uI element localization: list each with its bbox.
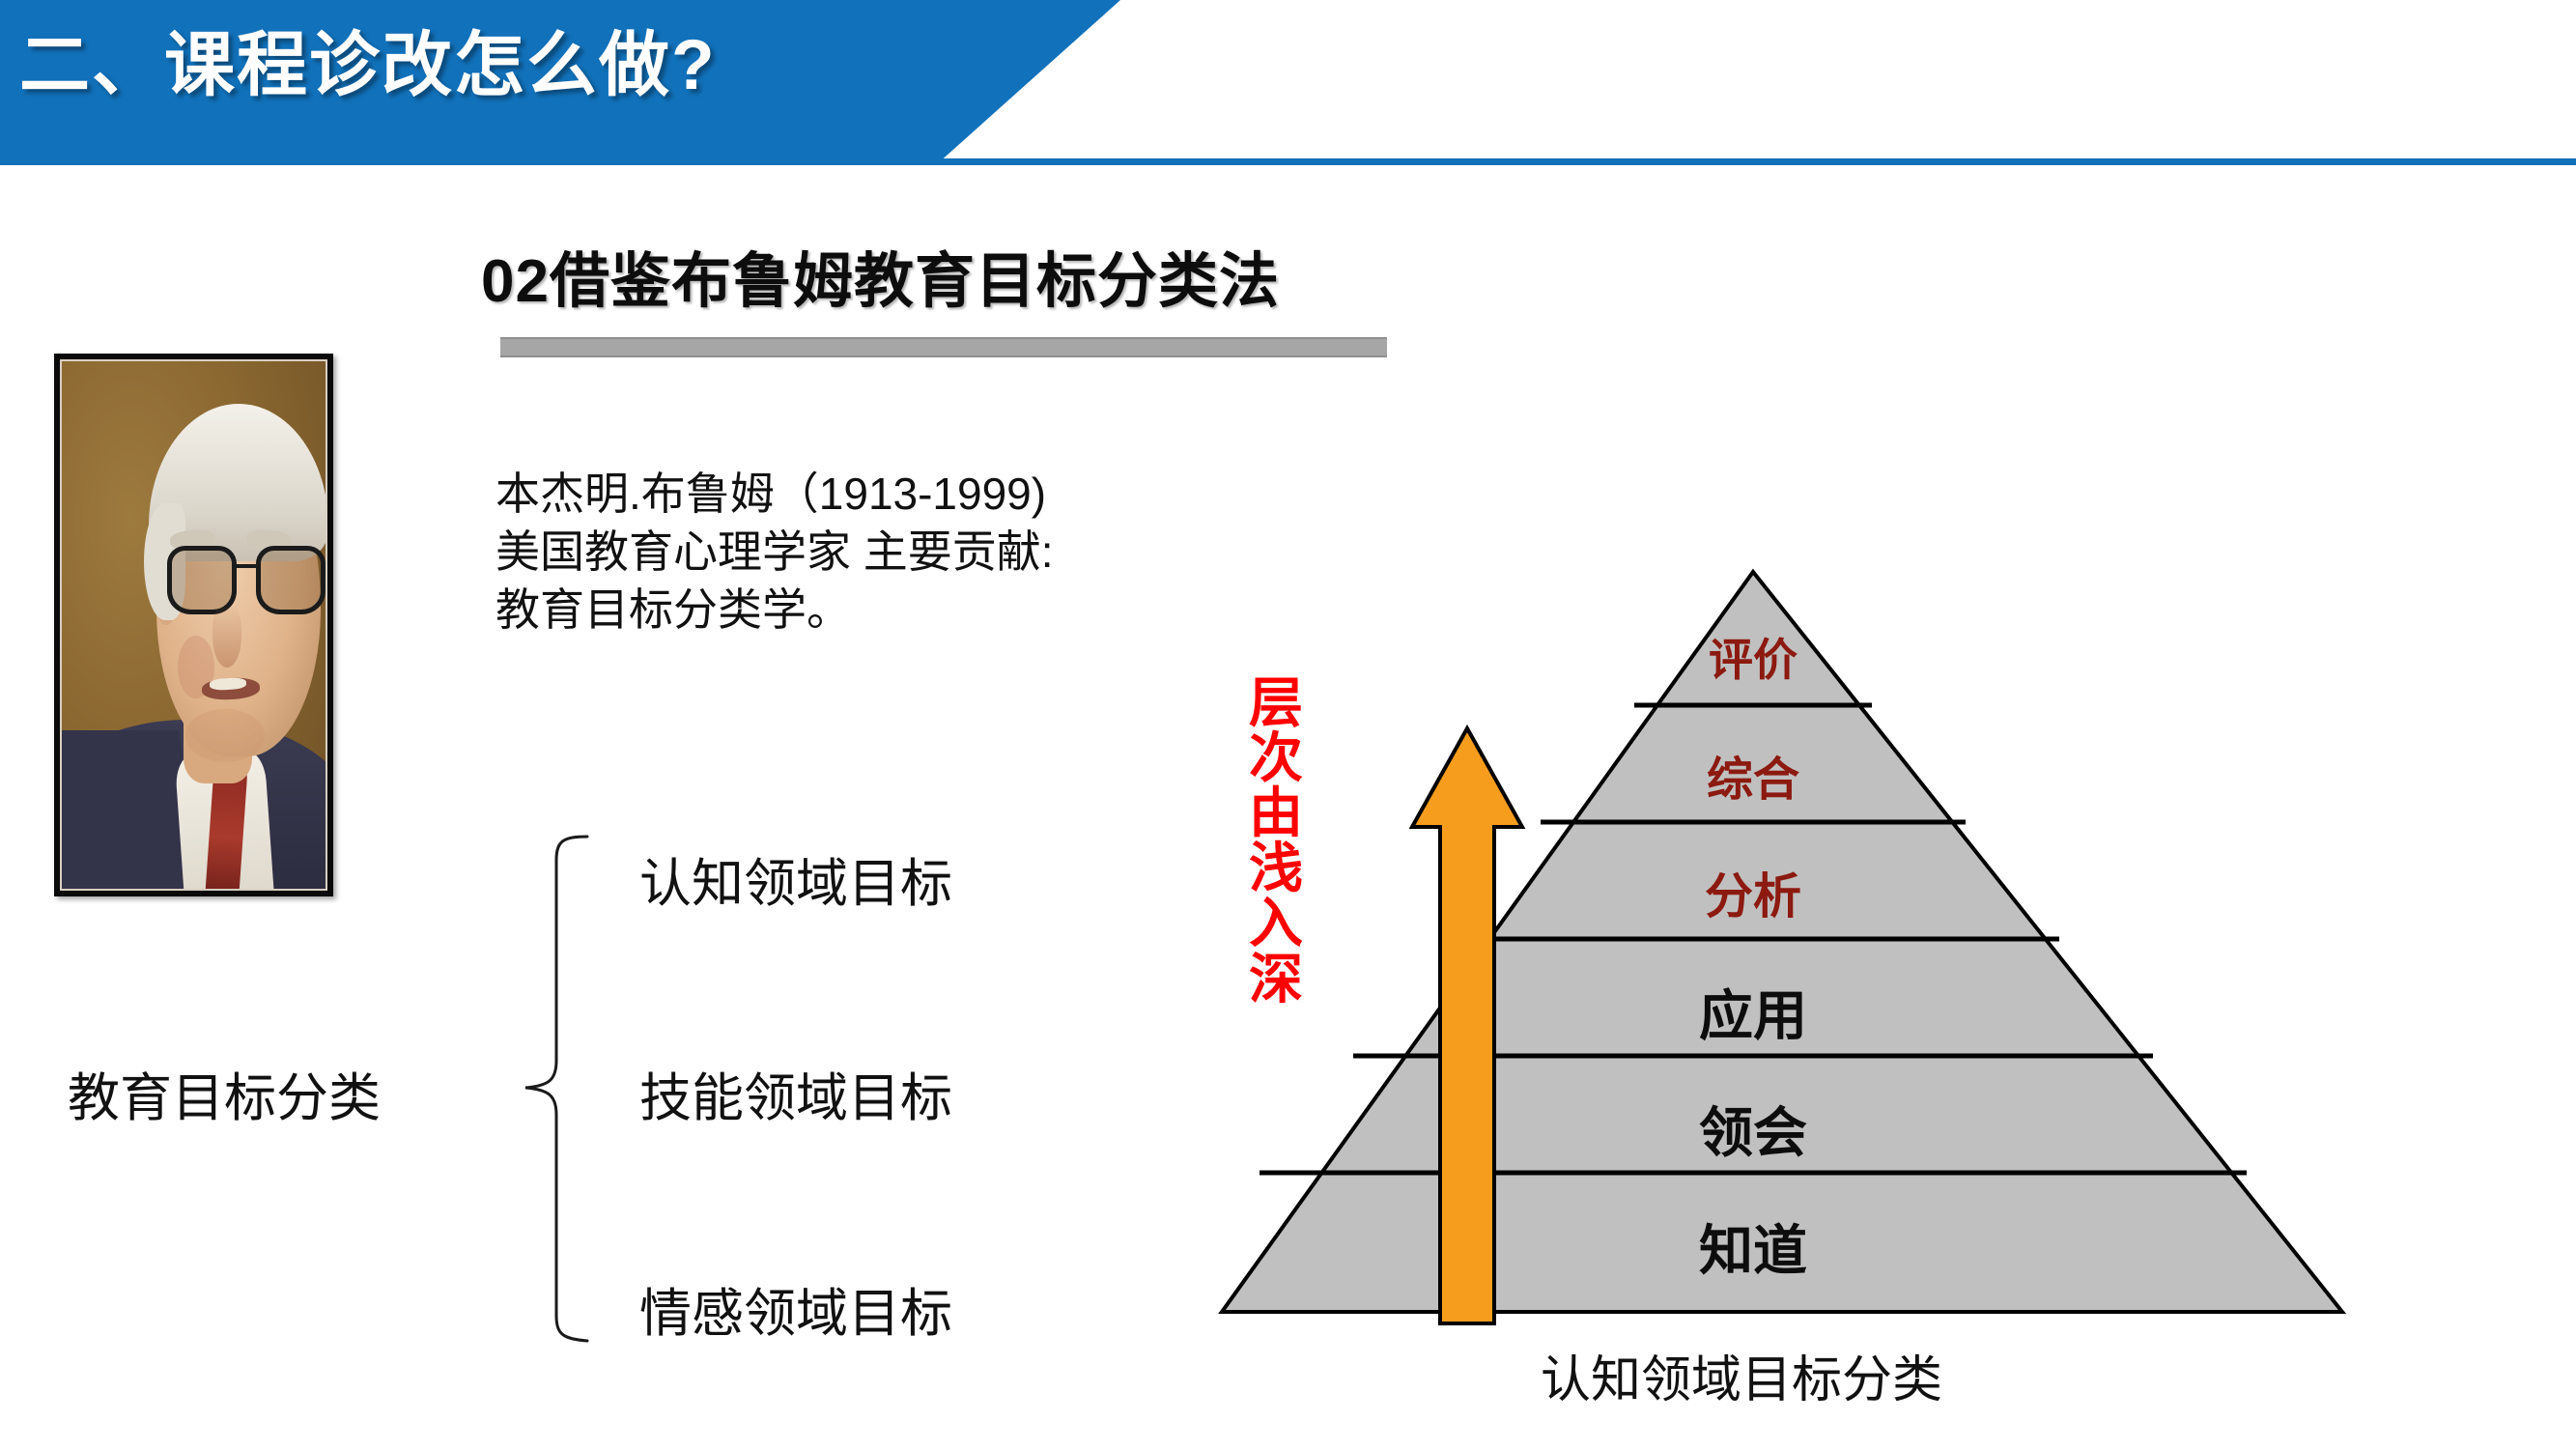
section-title-underbar — [500, 337, 1387, 357]
section-title: 02借鉴布鲁姆教育目标分类法 — [481, 232, 1280, 319]
bio-line-1: 本杰明.布鲁姆（1913-1999) — [495, 466, 1054, 524]
bio-line-2: 美国教育心理学家 主要贡献: — [495, 524, 1054, 582]
pyramid-graphic — [1198, 555, 2366, 1328]
portrait-glasses-bridge — [236, 564, 258, 568]
arrow-caption-char-2: 由 — [1246, 786, 1306, 841]
slide-canvas: 二、课程诊改怎么做? 02借鉴布鲁姆教育目标分类法 — [0, 0, 2576, 1450]
arrow-caption-char-0: 层 — [1246, 676, 1306, 731]
page-title: 二、课程诊改怎么做? — [19, 21, 717, 109]
blooms-taxonomy-pyramid: 评价 综合 分析 应用 领会 知道 — [1198, 555, 2366, 1328]
arrow-caption-char-5: 深 — [1246, 952, 1306, 1008]
classification-item-skill: 技能领域目标 — [639, 1055, 952, 1131]
arrow-caption-vertical: 层 次 由 浅 入 深 — [1246, 676, 1306, 1008]
portrait-nose — [212, 604, 241, 668]
pyramid-caption: 认知领域目标分类 — [1541, 1339, 1942, 1411]
classification-item-cognitive: 认知领域目标 — [639, 840, 952, 917]
bio-line-3: 教育目标分类学。 — [495, 582, 1054, 640]
arrow-caption-char-1: 次 — [1246, 731, 1306, 786]
portrait-eyeglasses — [167, 546, 326, 614]
arrow-caption-char-3: 浅 — [1246, 841, 1306, 896]
pyramid-body — [1222, 572, 2342, 1312]
curly-brace-icon — [522, 833, 589, 1345]
classification-item-affective: 情感领域目标 — [639, 1270, 952, 1347]
portrait-chin — [185, 709, 265, 762]
bloom-bio-text: 本杰明.布鲁姆（1913-1999) 美国教育心理学家 主要贡献: 教育目标分类… — [495, 466, 1054, 639]
classification-label: 教育目标分类 — [68, 1055, 381, 1131]
bloom-portrait-photo — [54, 354, 333, 896]
portrait-image — [60, 359, 327, 891]
arrow-caption-char-4: 入 — [1246, 896, 1306, 952]
portrait-lens-right — [256, 546, 326, 614]
